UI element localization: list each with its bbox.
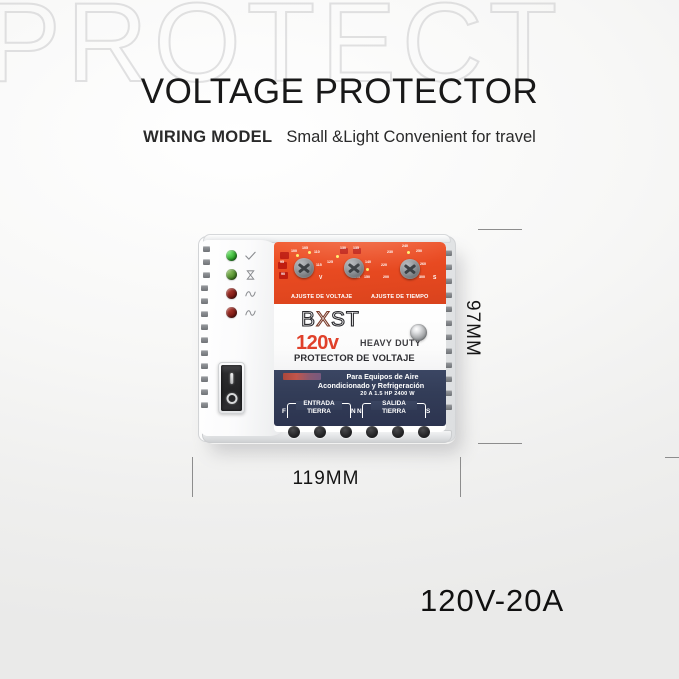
terminal-screw[interactable]	[340, 426, 352, 438]
vent-slot	[445, 250, 452, 256]
brand-logo: BXST	[301, 308, 360, 332]
dial3-slot-a	[404, 264, 416, 274]
switch-off-icon	[226, 393, 237, 404]
dial2-slot-b	[348, 263, 360, 273]
voltage-low-dial[interactable]	[294, 258, 314, 278]
delay-led	[226, 269, 237, 280]
output-ground-label: TIERRA	[362, 408, 426, 415]
dial1-mark-100: 100	[291, 249, 297, 253]
vent-slot	[445, 264, 452, 270]
under-voltage-led	[226, 307, 237, 318]
wave-down-icon	[244, 307, 257, 319]
dial2-mark-box-b	[353, 248, 361, 254]
vent-slot	[445, 278, 452, 284]
dial3-unit: S	[433, 275, 436, 281]
dial2-mark-150: 150	[364, 275, 370, 279]
vent-slot	[203, 259, 210, 265]
dial2-mark-145: 145	[354, 275, 360, 279]
output-pin-right: S	[426, 408, 430, 415]
input-ground-label: TIERRA	[287, 408, 351, 415]
rocker-switch-face[interactable]	[221, 365, 242, 411]
voltage-adjust-caption: AJUSTE DE VOLTAJE	[291, 294, 352, 300]
dial2-mark-140: 140	[365, 260, 371, 264]
dial1-mark-115: 115	[316, 263, 322, 267]
dial1-slot-b	[298, 263, 310, 273]
dial1-mark-90: 90	[281, 272, 285, 276]
vent-slot	[201, 337, 208, 343]
dial2-tick-b	[366, 268, 369, 271]
vent-slot	[203, 246, 210, 252]
dial1-mark-box-c	[279, 272, 288, 279]
dial2-tick-a	[336, 255, 339, 258]
product-image-canvas: PROTECT VOLTAGE PROTECTOR WIRING MODELSm…	[0, 0, 679, 679]
terminal-screw[interactable]	[392, 426, 404, 438]
switch-on-icon	[230, 373, 234, 384]
vent-slot	[201, 389, 208, 395]
dial3-mark-250: 250	[416, 249, 422, 253]
dial1-mark-95: 95	[280, 260, 284, 264]
input-pin-left: F	[282, 408, 286, 415]
voltage-high-dial[interactable]	[344, 258, 364, 278]
dial2-mark-130: 130	[340, 246, 346, 250]
vent-slot	[445, 376, 452, 382]
brand-panel: BXST 120v HEAVY DUTY PROTECTOR DE VOLTAJ…	[274, 304, 446, 370]
time-adjust-caption: AJUSTE DE TIEMPO	[371, 294, 429, 300]
dial3-mark-230: 230	[387, 250, 393, 254]
time-delay-dial[interactable]	[400, 259, 420, 279]
dial3-mark-200: 200	[383, 275, 389, 279]
dimension-guide-width-right	[460, 457, 461, 497]
dial1-tick-b	[308, 251, 311, 254]
normal-led	[226, 250, 237, 261]
check-icon	[244, 250, 257, 262]
dial3-mark-260: 260	[420, 262, 426, 266]
equipment-line-1: Para Equipos de Aire	[274, 372, 446, 381]
wave-up-icon	[244, 288, 257, 300]
vent-slot	[445, 404, 452, 410]
device-front-face: 100 105 110 95 115 90 V 130 135 125	[274, 242, 446, 432]
vent-slot	[201, 324, 208, 330]
dial1-unit: V	[319, 275, 322, 281]
vent-slot	[445, 348, 452, 354]
vent-slot	[201, 376, 208, 382]
subtitle-model: WIRING MODEL	[143, 128, 272, 146]
vent-slot	[201, 402, 208, 408]
dial1-mark-105: 105	[302, 246, 308, 250]
dimension-label-height: 97MM	[461, 300, 483, 357]
dimension-guide-width-extend	[665, 457, 679, 458]
dial3-slot-b	[404, 264, 416, 274]
output-label: SALIDA	[362, 400, 426, 407]
vent-slot	[201, 311, 208, 317]
input-pin-right: N	[351, 408, 356, 415]
adjustment-panel: 100 105 110 95 115 90 V 130 135 125	[274, 242, 446, 304]
page-subtitle: WIRING MODELSmall &Light Convenient for …	[0, 128, 679, 147]
dial3-mark-240: 240	[402, 244, 408, 248]
dial1-mark-110: 110	[314, 250, 320, 254]
terminal-info-panel: Para Equipos de Aire Acondicionado y Ref…	[274, 370, 446, 426]
product-model-label: 120V-20A	[420, 583, 564, 619]
terminal-screw[interactable]	[366, 426, 378, 438]
hourglass-icon	[244, 269, 257, 281]
dial1-mark-box-a	[280, 252, 289, 259]
dimension-guide-height-top	[478, 229, 522, 230]
dial1-mark-box-b	[278, 262, 287, 269]
vent-slot	[201, 285, 208, 291]
protector-de-voltaje-label: PROTECTOR DE VOLTAJE	[294, 352, 415, 363]
dial3-mark-220: 220	[381, 263, 387, 267]
equipment-line-2: Acondicionado y Refrigeración	[274, 381, 446, 390]
vent-slot	[445, 334, 452, 340]
heavy-duty-label: HEAVY DUTY	[360, 338, 421, 348]
voltage-protector-device: 100 105 110 95 115 90 V 130 135 125	[198, 234, 460, 446]
terminal-screw[interactable]	[288, 426, 300, 438]
dimension-label-width: 119MM	[192, 468, 460, 490]
dial2-mark-box-a	[340, 248, 348, 254]
dial3-tick-a	[407, 251, 410, 254]
dimension-guide-height-bottom	[478, 443, 522, 444]
vent-slot	[203, 272, 210, 278]
vent-slot	[445, 390, 452, 396]
vent-slot	[201, 298, 208, 304]
subtitle-tagline: Small &Light Convenient for travel	[286, 128, 535, 146]
vent-slot	[445, 292, 452, 298]
status-indicator-lamp	[410, 324, 427, 341]
input-label: ENTRADA	[287, 400, 351, 407]
dial2-slot-a	[348, 263, 360, 273]
vent-slot	[445, 306, 452, 312]
rating-line: 20 A 1.5 HP 2400 W	[274, 391, 446, 397]
dial3-mark-300: 300	[419, 275, 425, 279]
vent-slot	[201, 350, 208, 356]
dial1-tick-a	[296, 254, 299, 257]
output-pin-left: N	[357, 408, 362, 415]
dial1-slot-a	[298, 263, 310, 273]
dial2-mark-125: 125	[327, 260, 333, 264]
terminal-screw[interactable]	[418, 426, 430, 438]
over-voltage-led	[226, 288, 237, 299]
page-title: VOLTAGE PROTECTOR	[0, 72, 679, 112]
vent-slot	[445, 362, 452, 368]
terminal-screw[interactable]	[314, 426, 326, 438]
power-rocker-switch[interactable]	[218, 362, 245, 414]
vent-slot	[445, 320, 452, 326]
dial2-mark-135: 135	[353, 246, 359, 250]
vent-slot	[201, 363, 208, 369]
